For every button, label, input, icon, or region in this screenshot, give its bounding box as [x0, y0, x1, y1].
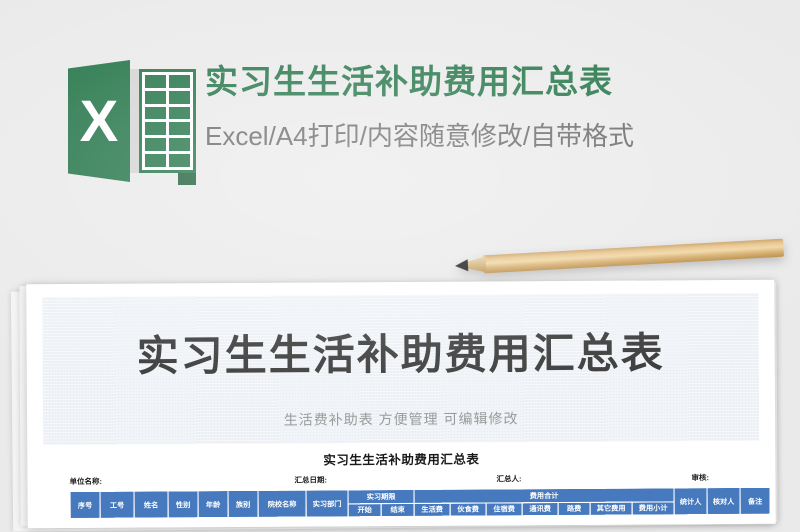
- col-通讯费[interactable]: 通讯费: [522, 503, 558, 516]
- col-伙食费[interactable]: 伙食费: [450, 503, 486, 516]
- excel-sheet-icon: [123, 69, 196, 173]
- colgroup-实习期限[interactable]: 实习期限: [348, 489, 414, 503]
- excel-letter-x: X: [68, 60, 130, 182]
- col-生活费[interactable]: 生活费: [414, 503, 450, 516]
- meta-reviewer: 审核:: [691, 472, 709, 484]
- col-备注[interactable]: 备注: [740, 487, 770, 514]
- col-结束[interactable]: 结束: [381, 503, 414, 516]
- banner-subtitle: Excel/A4打印/内容随意修改/自带格式: [205, 116, 790, 156]
- promo-banner: X 实习生生活补助费用汇总表 Excel/A4打印/内容随意修改/自带格式: [0, 0, 800, 268]
- paper-sheet-front: 实习生生活补助费用汇总表 生活费补助表 方便管理 可编辑修改 实习生生活补助费用…: [26, 280, 775, 529]
- banner-text-block: 实习生生活补助费用汇总表 Excel/A4打印/内容随意修改/自带格式: [205, 60, 790, 156]
- document-header-band: 实习生生活补助费用汇总表 生活费补助表 方便管理 可编辑修改: [42, 293, 759, 445]
- spreadsheet-table-title: 实习生生活补助费用汇总表: [43, 447, 759, 470]
- col-统计人[interactable]: 统计人: [674, 488, 707, 515]
- document-preview-stack: 实习生生活补助费用汇总表 生活费补助表 方便管理 可编辑修改 实习生生活补助费用…: [0, 282, 800, 526]
- meta-summary-date: 汇总日期:: [294, 473, 496, 486]
- spreadsheet-meta-row: 单位名称: 汇总日期: 汇总人: 审核:: [69, 472, 759, 488]
- spreadsheet-header-table: 序号 工号 姓名 性别 年龄 族别 院校名称 实习部门 实习期限 费用合计 统计…: [70, 487, 771, 519]
- spreadsheet-area: 实习生生活补助费用汇总表 单位名称: 汇总日期: 汇总人: 审核:: [43, 441, 759, 528]
- excel-sheet-grid-icon: [142, 72, 193, 170]
- col-序号[interactable]: 序号: [70, 491, 100, 518]
- col-开始[interactable]: 开始: [348, 504, 381, 517]
- document-title: 实习生生活补助费用汇总表: [42, 319, 758, 384]
- col-路费[interactable]: 路费: [558, 502, 590, 515]
- col-院校名称[interactable]: 院校名称: [258, 490, 306, 517]
- col-族别[interactable]: 族别: [228, 490, 258, 517]
- col-核对人[interactable]: 核对人: [707, 487, 740, 514]
- col-其它费用[interactable]: 其它费用: [590, 502, 632, 515]
- col-年龄[interactable]: 年龄: [198, 491, 228, 518]
- col-工号[interactable]: 工号: [100, 491, 134, 518]
- col-姓名[interactable]: 姓名: [134, 491, 168, 518]
- excel-logo-icon: X: [68, 57, 196, 185]
- meta-unit-name: 单位名称:: [69, 475, 294, 488]
- col-住宿费[interactable]: 住宿费: [486, 503, 522, 516]
- col-实习部门[interactable]: 实习部门: [306, 490, 348, 517]
- col-性别[interactable]: 性别: [168, 491, 198, 518]
- meta-summary-person: 汇总人:: [496, 472, 691, 485]
- banner-title: 实习生生活补助费用汇总表: [205, 60, 790, 104]
- document-subtitle: 生活费补助表 方便管理 可编辑修改: [43, 407, 759, 431]
- col-费用小计[interactable]: 费用小计: [632, 502, 674, 515]
- pencil-tip: [455, 259, 469, 272]
